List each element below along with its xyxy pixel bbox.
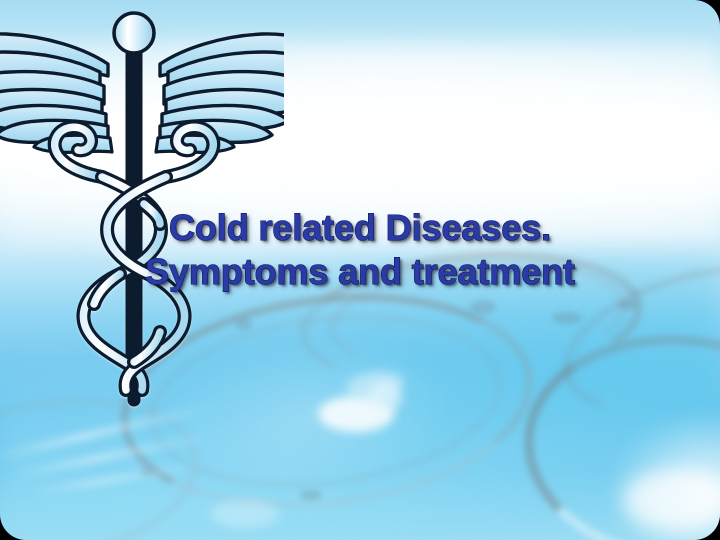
bokeh-highlight-e (210, 500, 280, 528)
background-speck (300, 490, 322, 500)
presentation-slide: Cold related Diseases. Symptoms and trea… (0, 0, 720, 540)
bokeh-highlight-d (624, 470, 720, 530)
title-line-1: Cold related Diseases. (0, 206, 720, 250)
background-speck (552, 312, 582, 324)
slide-title: Cold related Diseases. Symptoms and trea… (0, 206, 720, 294)
bokeh-highlight-b (368, 382, 402, 412)
background-speck (470, 300, 496, 314)
background-speck (618, 300, 638, 310)
title-line-2: Symptoms and treatment (0, 250, 720, 294)
